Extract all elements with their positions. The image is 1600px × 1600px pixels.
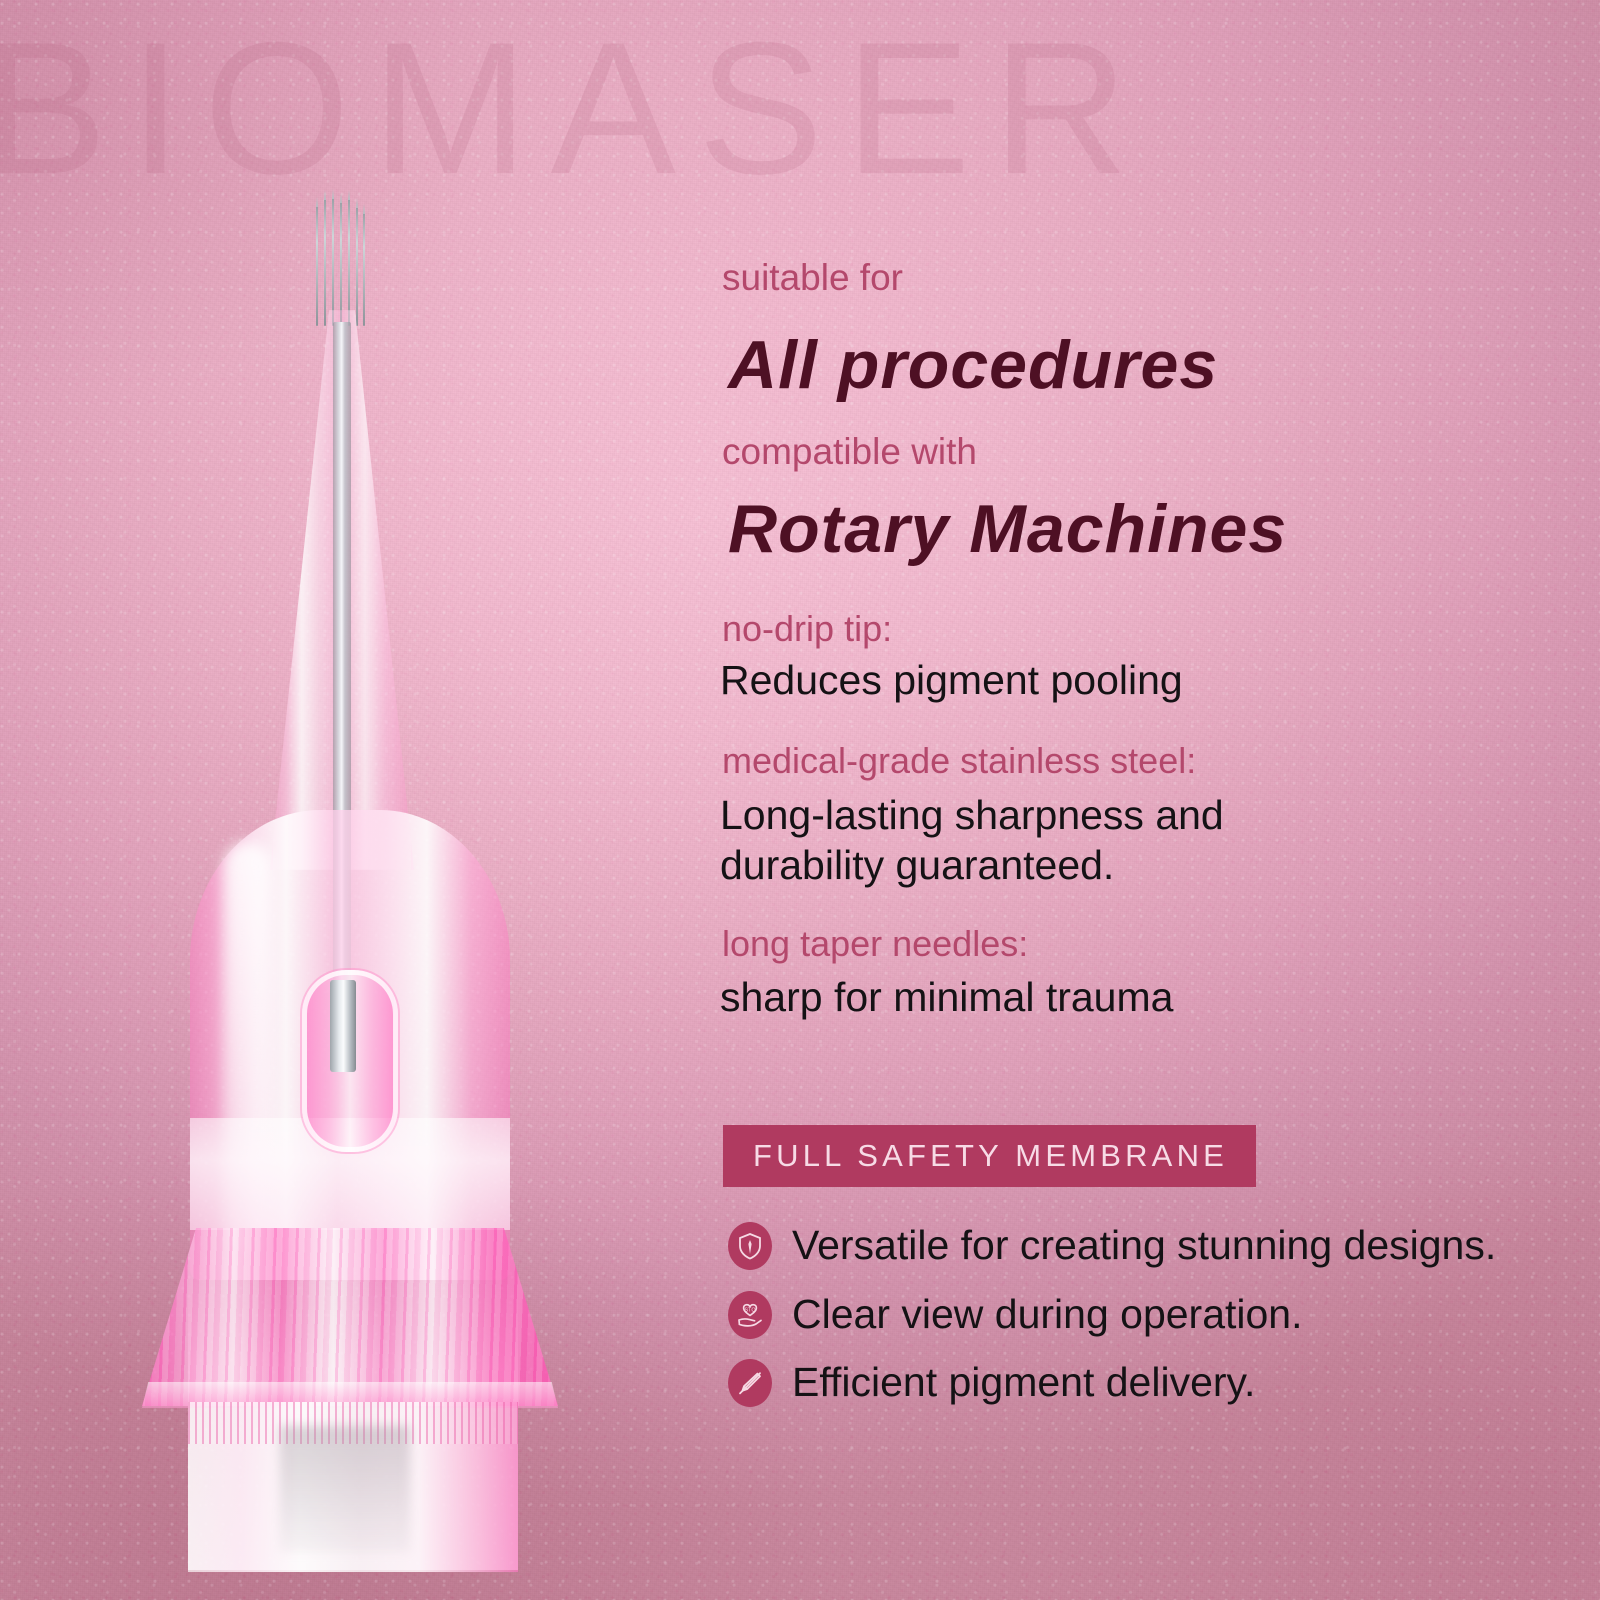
feature-label-stainless-steel: medical-grade stainless steel:: [722, 740, 1196, 781]
needle: [363, 213, 365, 326]
list-item-label: Versatile for creating stunning designs.: [792, 1221, 1496, 1270]
product-image: [120, 170, 600, 1570]
list-item: Efficient pigment delivery.: [728, 1358, 1255, 1407]
hand-sterile-icon: STQ: [728, 1291, 772, 1339]
feature-desc-stainless-steel: Long-lasting sharpness and durability gu…: [720, 790, 1340, 890]
cartridge-window-plunger: [330, 980, 356, 1072]
suitable-for-headline: All procedures: [728, 330, 1218, 401]
list-item-label: Clear view during operation.: [792, 1290, 1303, 1339]
needle: [356, 207, 358, 326]
cartridge-collar-ribs: [142, 1228, 558, 1406]
list-item: Versatile for creating stunning designs.: [728, 1221, 1496, 1270]
compatible-with-headline: Rotary Machines: [728, 494, 1287, 565]
needle-cluster: [316, 198, 368, 326]
feature-label-long-taper-needles: long taper needles:: [722, 923, 1028, 964]
svg-text:STQ: STQ: [744, 1307, 755, 1313]
infographic-canvas: BIOMASER suitable for All procedur: [0, 0, 1600, 1600]
feature-desc-no-drip-tip: Reduces pigment pooling: [720, 655, 1183, 705]
feature-label-no-drip-tip: no-drip tip:: [722, 608, 892, 649]
needle: [340, 202, 342, 326]
list-item-label: Efficient pigment delivery.: [792, 1358, 1255, 1407]
cartridge-stem-shadow: [280, 1426, 410, 1552]
needle: [316, 206, 318, 326]
shield-needle-icon: [728, 1222, 772, 1270]
list-item: STQ Clear view during operation.: [728, 1290, 1303, 1339]
feature-desc-long-taper-needles: sharp for minimal trauma: [720, 972, 1173, 1022]
pen-nib-icon: [728, 1359, 772, 1407]
needle: [324, 199, 326, 326]
suitable-for-kicker: suitable for: [722, 258, 903, 299]
content-column: suitable for All procedures compatible w…: [720, 0, 1580, 1600]
compatible-with-kicker: compatible with: [722, 432, 977, 473]
full-safety-membrane-badge-wrap: FULL SAFETY MEMBRANE: [723, 1125, 1256, 1187]
needle: [332, 198, 334, 326]
needle: [348, 199, 350, 326]
full-safety-membrane-badge: FULL SAFETY MEMBRANE: [723, 1125, 1256, 1187]
